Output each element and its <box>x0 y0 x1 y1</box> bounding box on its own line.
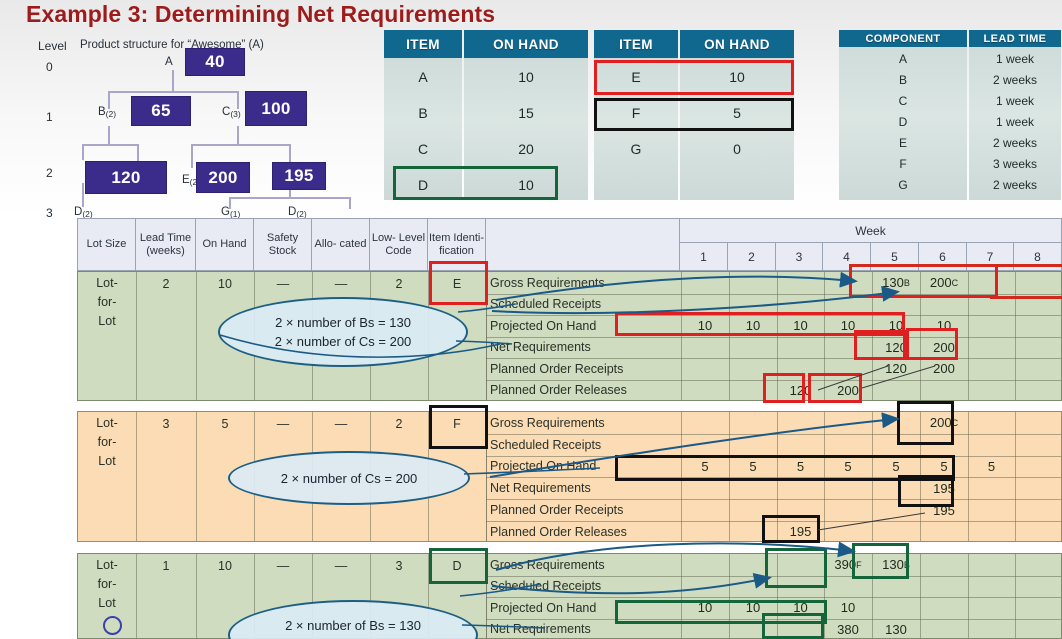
header-item-id: Item Identi- fication <box>428 219 486 270</box>
cell-e-net-requirements-w7 <box>968 337 1015 359</box>
tree-level-header: Level <box>38 39 67 53</box>
cell-f-planned-order-releases-w2 <box>729 521 777 543</box>
cell-d-projected-on-hand-w6 <box>920 597 968 619</box>
block-f-safety-stock: — <box>254 414 312 434</box>
tree-line <box>82 183 84 207</box>
cell-d-scheduled-receipts-w6 <box>920 576 968 598</box>
block-f-on-hand: 5 <box>196 414 254 434</box>
leadtime-row-a-component: A <box>839 48 967 69</box>
table2-row-g-item: G <box>594 132 678 166</box>
header-week-4: 4 <box>823 243 871 270</box>
cell-d-projected-on-hand-w8 <box>1015 597 1062 619</box>
row-label-net-requirements: Net Requirements <box>487 619 679 639</box>
cell-f-planned-order-receipts-w3 <box>777 499 824 521</box>
cell-e-planned-order-receipts-w1 <box>681 358 729 380</box>
row-label-projected-on-hand: Projected On Hand <box>487 456 679 478</box>
cell-e-planned-order-receipts-w2 <box>729 358 777 380</box>
tree-line <box>349 197 351 209</box>
cell-e-gross-requirements-w4 <box>824 272 872 294</box>
row-label-planned-order-releases: Planned Order Releases <box>487 521 679 543</box>
block-d-allocated: — <box>312 556 370 576</box>
cell-d-projected-on-hand-w2: 10 <box>729 597 777 619</box>
block-e-low-level-code: 2 <box>370 274 428 294</box>
cell-f-gross-requirements-w8 <box>1015 412 1062 434</box>
cell-e-projected-on-hand-w8 <box>1015 315 1062 337</box>
leadtime-row-c-component: C <box>839 90 967 111</box>
row-label-planned-order-receipts: Planned Order Receipts <box>487 499 679 521</box>
cell-d-scheduled-receipts-w5 <box>872 576 920 598</box>
on-hand-table-1: ITEM ON HAND A 10 B 15 C 20 D 10 <box>384 30 588 200</box>
block-e-lead-time: 2 <box>136 274 196 294</box>
cell-e-net-requirements-w1 <box>681 337 729 359</box>
leadtime-row-c-value: 1 week <box>969 90 1061 111</box>
mouse-cursor <box>103 616 122 635</box>
cell-e-gross-requirements-w5: 130B <box>872 272 920 294</box>
cell-d-gross-requirements-w6 <box>920 554 968 576</box>
header-safety-stock: Safety Stock <box>254 219 312 270</box>
cell-f-scheduled-receipts-w2 <box>729 434 777 456</box>
cell-e-net-requirements-w3 <box>777 337 824 359</box>
cell-e-planned-order-releases-w1 <box>681 380 729 402</box>
header-week-5: 5 <box>871 243 919 270</box>
header-week-8: 8 <box>1014 243 1061 270</box>
table1-row-d-onhand: 10 <box>464 168 588 202</box>
cell-e-scheduled-receipts-w3 <box>777 294 824 316</box>
header-week-2: 2 <box>728 243 776 270</box>
cell-e-net-requirements-w2 <box>729 337 777 359</box>
leadtime-row-g-value: 2 weeks <box>969 174 1061 195</box>
leadtime-row-f-value: 3 weeks <box>969 153 1061 174</box>
cell-f-planned-order-releases-w5 <box>872 521 920 543</box>
cell-f-projected-on-hand-w6: 5 <box>920 456 968 478</box>
cell-f-planned-order-receipts-w7 <box>968 499 1015 521</box>
cell-f-scheduled-receipts-w4 <box>824 434 872 456</box>
header-lot-size: Lot Size <box>78 219 136 270</box>
tree-node-a: A <box>165 56 173 69</box>
tree-level-3: 3 <box>46 206 53 220</box>
mrp-block-d: Lot-for-Lot110——3DGross Requirements390F… <box>77 553 1062 639</box>
cell-d-projected-on-hand-w1: 10 <box>681 597 729 619</box>
block-f-lead-time: 3 <box>136 414 196 434</box>
table2-row-g-onhand: 0 <box>680 132 794 166</box>
block-e-item: E <box>428 274 486 294</box>
leadtime-header-leadtime: LEAD TIME <box>969 30 1061 47</box>
cell-e-scheduled-receipts-w1 <box>681 294 729 316</box>
row-label-gross-requirements: Gross Requirements <box>487 412 679 434</box>
cell-d-net-requirements-w5: 130 <box>872 619 920 639</box>
cell-d-projected-on-hand-w3: 10 <box>777 597 824 619</box>
tree-node-b: B(2) <box>98 106 116 119</box>
cell-d-gross-requirements-w4: 390F <box>824 554 872 576</box>
header-week-group: Week <box>680 219 1061 243</box>
cell-e-planned-order-receipts-w7 <box>968 358 1015 380</box>
block-d-lot-size: Lot-for-Lot <box>78 556 136 613</box>
cell-f-gross-requirements-w6: 200C <box>920 412 968 434</box>
row-label-planned-order-releases: Planned Order Releases <box>487 380 679 402</box>
cell-f-net-requirements-w2 <box>729 477 777 499</box>
cell-e-scheduled-receipts-w2 <box>729 294 777 316</box>
cell-d-net-requirements-w8 <box>1015 619 1062 639</box>
cell-f-planned-order-releases-w7 <box>968 521 1015 543</box>
cell-d-scheduled-receipts-w8 <box>1015 576 1062 598</box>
cell-e-net-requirements-w8 <box>1015 337 1062 359</box>
cell-d-gross-requirements-w8 <box>1015 554 1062 576</box>
cell-e-projected-on-hand-w1: 10 <box>681 315 729 337</box>
cell-e-planned-order-releases-w2 <box>729 380 777 402</box>
tree-line <box>191 144 193 168</box>
cell-f-scheduled-receipts-w1 <box>681 434 729 456</box>
header-rowlabel-spacer <box>486 219 680 270</box>
cell-f-scheduled-receipts-w6 <box>920 434 968 456</box>
table1-row-c-item: C <box>384 132 462 166</box>
leadtime-header-component: COMPONENT <box>839 30 967 47</box>
leadtime-row-b-component: B <box>839 69 967 90</box>
row-label-planned-order-receipts: Planned Order Receipts <box>487 358 679 380</box>
cell-f-projected-on-hand-w3: 5 <box>777 456 824 478</box>
leadtime-row-d-component: D <box>839 111 967 132</box>
table1-row-a-onhand: 10 <box>464 60 588 94</box>
cell-e-planned-order-releases-w7 <box>968 380 1015 402</box>
row-label-projected-on-hand: Projected On Hand <box>487 597 679 619</box>
cell-e-projected-on-hand-w6: 10 <box>920 315 968 337</box>
cell-e-planned-order-releases-w6 <box>920 380 968 402</box>
cell-f-scheduled-receipts-w3 <box>777 434 824 456</box>
tree-level-1: 1 <box>46 110 53 124</box>
cell-e-gross-requirements-w3 <box>777 272 824 294</box>
table1-row-b-item: B <box>384 96 462 130</box>
row-label-scheduled-receipts: Scheduled Receipts <box>487 294 679 316</box>
tree-qty-b: 65 <box>131 96 191 126</box>
cell-f-planned-order-releases-w1 <box>681 521 729 543</box>
block-e-allocated: — <box>312 274 370 294</box>
cell-f-net-requirements-w8 <box>1015 477 1062 499</box>
table1-row-a-item: A <box>384 60 462 94</box>
block-f-item: F <box>428 414 486 434</box>
cell-e-scheduled-receipts-w6 <box>920 294 968 316</box>
cell-f-planned-order-receipts-w1 <box>681 499 729 521</box>
cell-e-scheduled-receipts-w8 <box>1015 294 1062 316</box>
header-week-7: 7 <box>967 243 1014 270</box>
table1-row-c-onhand: 20 <box>464 132 588 166</box>
header-week-3: 3 <box>776 243 823 270</box>
cell-e-gross-requirements-w7 <box>968 272 1015 294</box>
cell-e-planned-order-receipts-w4 <box>824 358 872 380</box>
cell-e-planned-order-receipts-w3 <box>777 358 824 380</box>
cell-f-net-requirements-w3 <box>777 477 824 499</box>
cell-f-planned-order-receipts-w8 <box>1015 499 1062 521</box>
block-e-on-hand: 10 <box>196 274 254 294</box>
mrp-block-f: Lot-for-Lot35——2FGross Requirements200CS… <box>77 411 1062 542</box>
cell-f-net-requirements-w4 <box>824 477 872 499</box>
cell-f-planned-order-receipts-w4 <box>824 499 872 521</box>
table2-row-f-item: F <box>594 96 678 130</box>
tree-level-2: 2 <box>46 166 53 180</box>
table1-header-on-hand: ON HAND <box>464 30 588 58</box>
cell-d-scheduled-receipts-w1 <box>681 576 729 598</box>
leadtime-row-e-value: 2 weeks <box>969 132 1061 153</box>
cell-e-planned-order-receipts-w8 <box>1015 358 1062 380</box>
tree-line <box>191 144 289 146</box>
cell-e-planned-order-releases-w5 <box>872 380 920 402</box>
cell-e-net-requirements-w6: 200 <box>920 337 968 359</box>
cell-e-scheduled-receipts-w5 <box>872 294 920 316</box>
cell-f-scheduled-receipts-w5 <box>872 434 920 456</box>
cell-e-gross-requirements-w6: 200C <box>920 272 968 294</box>
tree-line <box>237 126 239 144</box>
block-f-allocated: — <box>312 414 370 434</box>
table1-row-b-onhand: 15 <box>464 96 588 130</box>
cell-d-net-requirements-w2 <box>729 619 777 639</box>
table2-row-f-onhand: 5 <box>680 96 794 130</box>
cell-f-planned-order-releases-w8 <box>1015 521 1062 543</box>
cell-f-gross-requirements-w2 <box>729 412 777 434</box>
cell-e-gross-requirements-w1 <box>681 272 729 294</box>
product-structure-tree: Level Product structure for “Awesome” (A… <box>0 28 385 216</box>
cell-d-gross-requirements-w5: 130B <box>872 554 920 576</box>
block-e-lot-size: Lot-for-Lot <box>78 274 136 331</box>
cell-f-planned-order-releases-w4 <box>824 521 872 543</box>
block-d-low-level-code: 3 <box>370 556 428 576</box>
row-label-scheduled-receipts: Scheduled Receipts <box>487 434 679 456</box>
cell-d-gross-requirements-w3 <box>777 554 824 576</box>
cell-e-projected-on-hand-w7 <box>968 315 1015 337</box>
cell-f-net-requirements-w5 <box>872 477 920 499</box>
table2-row-e-item: E <box>594 60 678 94</box>
cell-f-gross-requirements-w3 <box>777 412 824 434</box>
block-f-lot-size: Lot-for-Lot <box>78 414 136 471</box>
cell-f-projected-on-hand-w7: 5 <box>968 456 1015 478</box>
cell-f-scheduled-receipts-w7 <box>968 434 1015 456</box>
cell-f-planned-order-releases-w6 <box>920 521 968 543</box>
cell-f-projected-on-hand-w2: 5 <box>729 456 777 478</box>
cell-d-net-requirements-w4: 380 <box>824 619 872 639</box>
row-label-net-requirements: Net Requirements <box>487 477 679 499</box>
page-title: Example 3: Determining Net Requirements <box>26 1 495 28</box>
block-d-on-hand: 10 <box>196 556 254 576</box>
cell-e-projected-on-hand-w3: 10 <box>777 315 824 337</box>
cell-e-gross-requirements-w2 <box>729 272 777 294</box>
cell-f-net-requirements-w6: 195 <box>920 477 968 499</box>
cell-d-gross-requirements-w2 <box>729 554 777 576</box>
tree-line <box>108 126 110 144</box>
cell-f-projected-on-hand-w4: 5 <box>824 456 872 478</box>
cell-e-planned-order-receipts-w5: 120 <box>872 358 920 380</box>
cell-d-gross-requirements-w1 <box>681 554 729 576</box>
leadtime-row-d-value: 1 week <box>969 111 1061 132</box>
block-d-item: D <box>428 556 486 576</box>
cell-e-planned-order-releases-w8 <box>1015 380 1062 402</box>
cell-d-net-requirements-w7 <box>968 619 1015 639</box>
cell-e-projected-on-hand-w5: 10 <box>872 315 920 337</box>
cell-d-scheduled-receipts-w3 <box>777 576 824 598</box>
tree-qty-c: 100 <box>245 91 307 126</box>
table2-header-on-hand: ON HAND <box>680 30 794 58</box>
row-label-projected-on-hand: Projected On Hand <box>487 315 679 337</box>
cell-f-projected-on-hand-w1: 5 <box>681 456 729 478</box>
tree-line <box>108 91 238 93</box>
cell-f-projected-on-hand-w8 <box>1015 456 1062 478</box>
cell-e-net-requirements-w4 <box>824 337 872 359</box>
cell-f-gross-requirements-w7 <box>968 412 1015 434</box>
header-week-6: 6 <box>919 243 967 270</box>
block-e-safety-stock: — <box>254 274 312 294</box>
slide-root: Example 3: Determining Net Requirements … <box>0 0 1062 639</box>
cell-f-gross-requirements-w4 <box>824 412 872 434</box>
callout-block-e: 2 × number of Bs = 130 2 × number of Cs … <box>218 297 468 367</box>
cell-d-projected-on-hand-w7 <box>968 597 1015 619</box>
callout-block-f: 2 × number of Cs = 200 <box>228 451 470 505</box>
cell-f-planned-order-receipts-w6: 195 <box>920 499 968 521</box>
leadtime-row-b-value: 2 weeks <box>969 69 1061 90</box>
lead-time-table: COMPONENT LEAD TIME A 1 week B 2 weeks C… <box>839 30 1061 200</box>
tree-node-c: C(3) <box>222 106 241 119</box>
block-d-safety-stock: — <box>254 556 312 576</box>
cell-f-planned-order-receipts-w2 <box>729 499 777 521</box>
tree-qty-a: 40 <box>185 48 245 76</box>
cell-f-gross-requirements-w5 <box>872 412 920 434</box>
cell-d-scheduled-receipts-w7 <box>968 576 1015 598</box>
header-on-hand: On Hand <box>196 219 254 270</box>
cell-e-gross-requirements-w8 <box>1015 272 1062 294</box>
cell-f-planned-order-receipts-w5 <box>872 499 920 521</box>
table2-row-e-onhand: 10 <box>680 60 794 94</box>
leadtime-row-a-value: 1 week <box>969 48 1061 69</box>
leadtime-row-e-component: E <box>839 132 967 153</box>
header-allocated: Allo- cated <box>312 219 370 270</box>
tree-line <box>82 144 138 146</box>
leadtime-row-g-component: G <box>839 174 967 195</box>
header-low-level-code: Low- Level Code <box>370 219 428 270</box>
cell-f-planned-order-releases-w3: 195 <box>777 521 824 543</box>
cell-e-projected-on-hand-w2: 10 <box>729 315 777 337</box>
tree-qty-e-c: 200 <box>196 162 250 193</box>
cell-f-projected-on-hand-w5: 5 <box>872 456 920 478</box>
cell-e-scheduled-receipts-w4 <box>824 294 872 316</box>
cell-e-planned-order-receipts-w6: 200 <box>920 358 968 380</box>
cell-d-net-requirements-w3 <box>777 619 824 639</box>
cell-d-net-requirements-w6 <box>920 619 968 639</box>
cell-d-gross-requirements-w7 <box>968 554 1015 576</box>
row-label-gross-requirements: Gross Requirements <box>487 554 679 576</box>
cell-e-scheduled-receipts-w7 <box>968 294 1015 316</box>
block-f-low-level-code: 2 <box>370 414 428 434</box>
cell-d-projected-on-hand-w5 <box>872 597 920 619</box>
header-week-1: 1 <box>680 243 728 270</box>
leadtime-row-f-component: F <box>839 153 967 174</box>
cell-e-projected-on-hand-w4: 10 <box>824 315 872 337</box>
cell-f-gross-requirements-w1 <box>681 412 729 434</box>
cell-d-scheduled-receipts-w2 <box>729 576 777 598</box>
tree-line <box>229 197 349 199</box>
table2-header-item: ITEM <box>594 30 678 58</box>
cell-d-scheduled-receipts-w4 <box>824 576 872 598</box>
tree-level-0: 0 <box>46 60 53 74</box>
tree-line <box>172 70 174 92</box>
cell-e-net-requirements-w5: 120 <box>872 337 920 359</box>
table1-row-d-item: D <box>384 168 462 202</box>
row-label-net-requirements: Net Requirements <box>487 337 679 359</box>
header-lead-time: Lead Time (weeks) <box>136 219 196 270</box>
table1-header-item: ITEM <box>384 30 462 58</box>
cell-e-planned-order-releases-w3: 120 <box>777 380 824 402</box>
cell-f-net-requirements-w7 <box>968 477 1015 499</box>
on-hand-table-2: ITEM ON HAND E 10 F 5 G 0 <box>594 30 794 200</box>
cell-f-scheduled-receipts-w8 <box>1015 434 1062 456</box>
tree-line <box>82 144 84 160</box>
tree-qty-e-b: 120 <box>85 161 167 194</box>
block-d-lead-time: 1 <box>136 556 196 576</box>
cell-d-net-requirements-w1 <box>681 619 729 639</box>
row-label-scheduled-receipts: Scheduled Receipts <box>487 576 679 598</box>
cell-e-planned-order-releases-w4: 200 <box>824 380 872 402</box>
cell-d-projected-on-hand-w4: 10 <box>824 597 872 619</box>
row-label-gross-requirements: Gross Requirements <box>487 272 679 294</box>
cell-f-net-requirements-w1 <box>681 477 729 499</box>
tree-qty-f: 195 <box>272 162 326 190</box>
